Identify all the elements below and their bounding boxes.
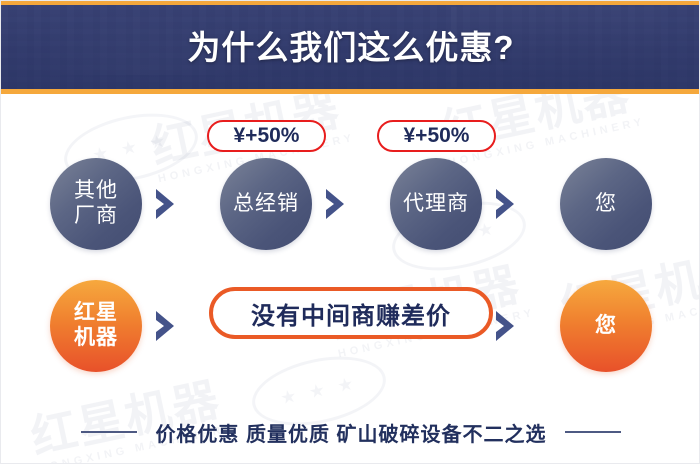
node-label-line1: 您 xyxy=(595,192,617,217)
node-you-chain: 您 xyxy=(560,158,652,250)
node-label-line1: 其他 xyxy=(74,179,118,204)
middleman-chain-row: ¥+50% ¥+50% 其他 厂商 总经销 代理商 xyxy=(1,116,700,256)
chevron-right-icon xyxy=(152,309,182,343)
markup-badge-label: ¥+50% xyxy=(234,124,300,148)
footer-tagline-text: 价格优惠 质量优质 矿山破碎设备不二之选 xyxy=(155,418,546,447)
footer-rule-left xyxy=(81,431,137,433)
node-label-line1: 代理商 xyxy=(403,192,469,217)
direct-sale-row: 红星 机器 没有中间商赚差价 您 xyxy=(1,276,700,381)
node-agent: 代理商 xyxy=(390,158,482,250)
node-label-line2: 厂商 xyxy=(74,204,118,229)
node-hongxing-machinery: 红星 机器 xyxy=(50,280,142,372)
page-title: 为什么我们这么优惠? xyxy=(1,1,700,89)
promo-poster: 为什么我们这么优惠? 红星机器 HONGXING MACHINERY 红星机器 … xyxy=(0,0,700,464)
markup-badge-agent: ¥+50% xyxy=(377,120,496,152)
header-banner: 为什么我们这么优惠? xyxy=(1,1,700,94)
chevron-right-icon xyxy=(492,187,522,221)
header-bottom-accent-rule xyxy=(1,89,700,94)
node-you-direct: 您 xyxy=(560,280,652,372)
footer-tagline: 价格优惠 质量优质 矿山破碎设备不二之选 xyxy=(1,406,700,458)
node-general-distributor: 总经销 xyxy=(220,158,312,250)
node-label-line1: 红星 xyxy=(74,301,118,326)
node-label-line2: 机器 xyxy=(74,326,118,351)
footer-rule-right xyxy=(565,431,621,433)
no-middleman-pill-label: 没有中间商赚差价 xyxy=(251,296,451,331)
node-label-line1: 总经销 xyxy=(233,192,299,217)
chevron-right-icon xyxy=(152,187,182,221)
node-other-manufacturer: 其他 厂商 xyxy=(50,158,142,250)
no-middleman-pill: 没有中间商赚差价 xyxy=(209,287,493,339)
chevron-right-icon xyxy=(492,309,522,343)
node-label-line1: 您 xyxy=(595,314,617,339)
chevron-right-icon xyxy=(322,187,352,221)
markup-badge-label: ¥+50% xyxy=(404,124,470,148)
markup-badge-distributor: ¥+50% xyxy=(207,120,326,152)
